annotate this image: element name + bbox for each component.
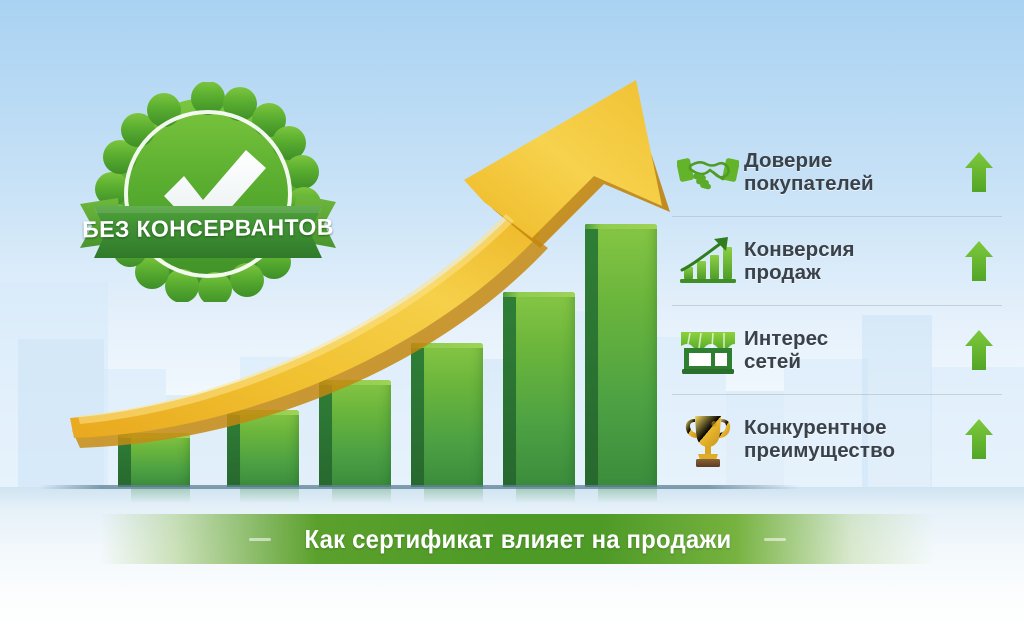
arrow-up-icon xyxy=(956,418,1002,460)
benefit-item-conversion[interactable]: Конверсия продаж xyxy=(672,216,1002,305)
banner-left-dash xyxy=(249,538,271,541)
benefit-label-line2: преимущество xyxy=(744,439,956,462)
benefit-label: Интерес сетей xyxy=(744,327,956,373)
infographic-poster: БЕЗ КОНСЕРВАНТОВ xyxy=(0,0,1024,629)
arrow-up-icon xyxy=(956,151,1002,193)
store-icon xyxy=(672,319,744,381)
arrow-up-icon xyxy=(956,240,1002,282)
benefit-label-line1: Интерес xyxy=(744,327,956,350)
banner-title: Как сертификат влияет на продажи xyxy=(304,524,731,555)
benefit-label-line1: Конверсия xyxy=(744,238,956,261)
benefit-label-line1: Конкурентное xyxy=(744,416,956,439)
benefit-item-competitive-advantage[interactable]: Конкурентное преимущество xyxy=(672,394,1002,483)
banner-right-dash xyxy=(764,538,786,541)
benefit-label-line1: Доверие xyxy=(744,149,956,172)
benefits-list: Доверие покупателей xyxy=(672,128,1002,483)
benefit-label-line2: продаж xyxy=(744,261,956,284)
benefit-label: Конверсия продаж xyxy=(744,238,956,284)
seal-ribbon-label: БЕЗ КОНСЕРВАНТОВ xyxy=(82,214,334,244)
growth-chart-icon xyxy=(672,230,744,292)
arrow-up-icon xyxy=(956,329,1002,371)
trophy-icon xyxy=(672,408,744,470)
benefit-item-trust[interactable]: Доверие покупателей xyxy=(672,128,1002,216)
benefit-label: Конкурентное преимущество xyxy=(744,416,956,462)
benefit-item-retail-interest[interactable]: Интерес сетей xyxy=(672,305,1002,394)
handshake-icon xyxy=(672,141,744,203)
benefit-label-line2: сетей xyxy=(744,350,956,373)
benefit-label: Доверие покупателей xyxy=(744,149,956,195)
certification-seal: БЕЗ КОНСЕРВАНТОВ xyxy=(78,82,338,302)
bottom-banner: Как сертификат влияет на продажи xyxy=(100,514,935,564)
benefit-label-line2: покупателей xyxy=(744,172,956,195)
